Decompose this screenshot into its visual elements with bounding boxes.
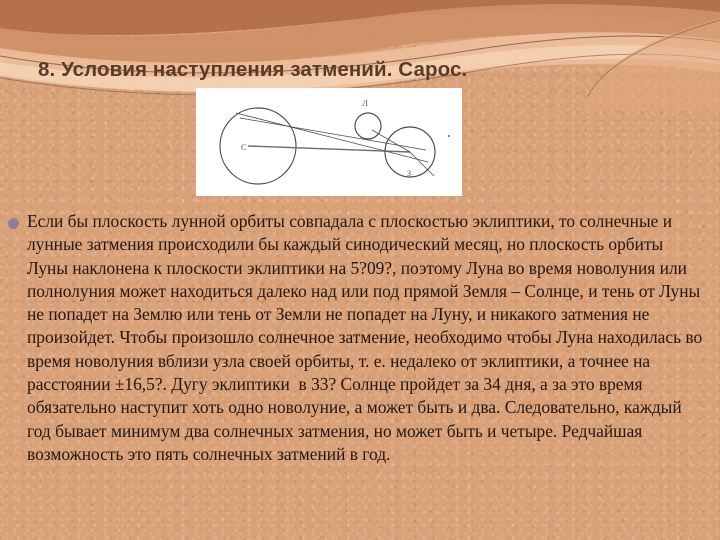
tangent-ray-upper [236,113,428,162]
earth-label: З [407,168,411,178]
wave-band-dark [0,0,720,35]
presentation-slide: 8. Условия наступления затмений. Сарос. … [0,0,720,540]
bullet-marker [8,218,19,229]
eclipse-geometry-diagram: С Л З [196,88,462,196]
reference-dot [448,135,450,137]
earth-lower-ray [410,152,434,176]
page-title: 8. Условия наступления затмений. Сарос. [38,58,698,82]
wave-band-mid [0,4,720,64]
moon-circle [355,113,381,139]
sun-label: С [241,142,247,152]
diagram-svg: С Л З [196,88,462,196]
body-paragraph: Если бы плоскость лунной орбиты совпадал… [27,210,708,466]
moon-label: Л [362,98,368,108]
body-bullet-item: Если бы плоскость лунной орбиты совпадал… [8,210,708,466]
earth-moon-ray [372,130,410,152]
